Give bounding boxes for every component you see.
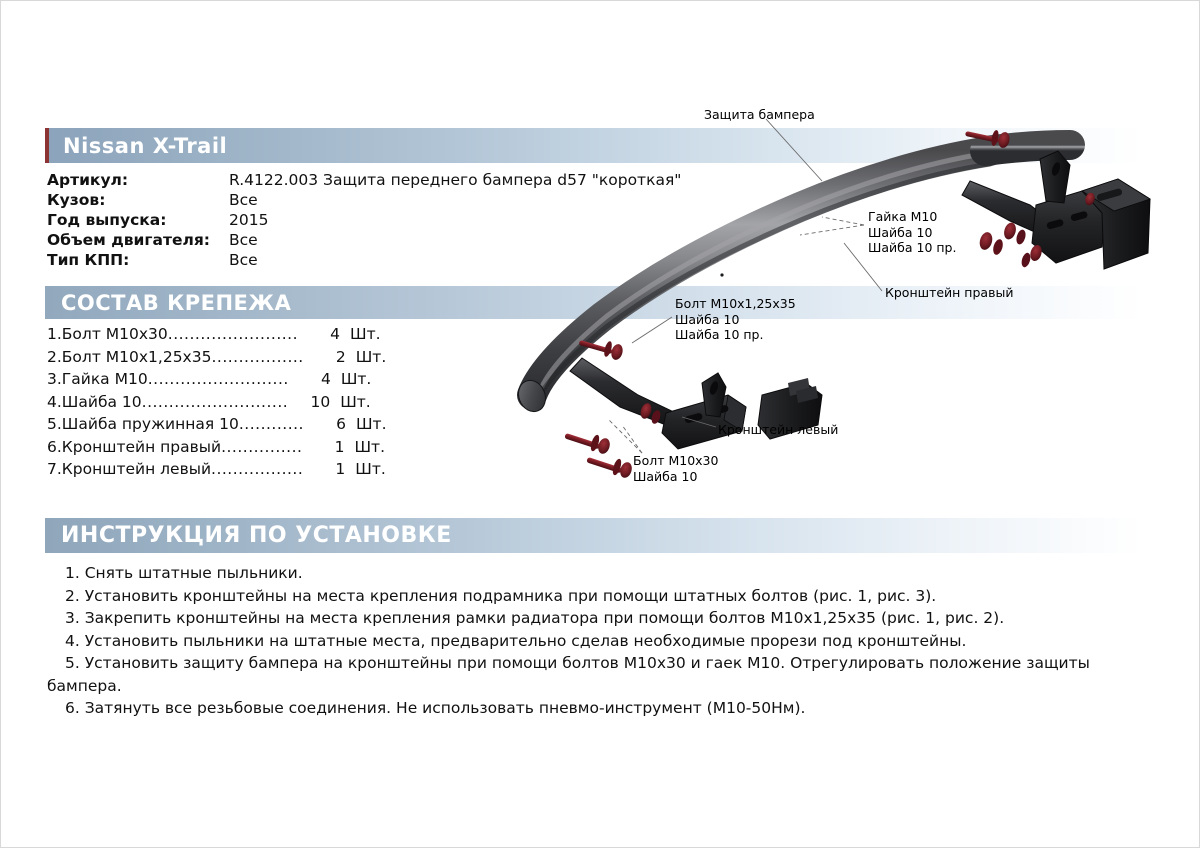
- washer: [1020, 252, 1032, 268]
- instruction-step: 6. Затянуть все резьбовые соединения. Не…: [47, 697, 1147, 720]
- spec-label: Тип КПП:: [47, 250, 229, 270]
- fastener-unit: Шт.: [340, 391, 374, 414]
- leader-line-right-group-a: [822, 217, 864, 225]
- instructions-title: ИНСТРУКЦИЯ ПО УСТАНОВКЕ: [45, 523, 452, 548]
- instruction-step: 2. Установить кронштейны на места крепле…: [47, 585, 1147, 608]
- leader-dots: .................: [211, 346, 303, 369]
- tube-vent-hole: [720, 273, 723, 276]
- callout-line: Болт М10х30: [633, 453, 718, 469]
- fasteners-title: СОСТАВ КРЕПЕЖА: [45, 291, 291, 315]
- spec-value: 2015: [229, 210, 268, 230]
- callout-line: Болт М10х1,25х35: [675, 296, 796, 312]
- fastener-name: Болт М10х1,25х35: [62, 346, 212, 369]
- fastener-qty: 2: [304, 346, 356, 369]
- fastener-unit: Шт.: [341, 368, 375, 391]
- leader-dots: ........................: [168, 323, 298, 346]
- nut-m10: [978, 231, 994, 252]
- spec-label: Объем двигателя:: [47, 230, 229, 250]
- spec-value: Все: [229, 190, 258, 210]
- callout-line: Шайба 10 пр.: [868, 240, 956, 256]
- callout-bumper-guard: Защита бампера: [704, 107, 815, 123]
- fastener-row: 7. Кронштейн левый ................. 1 Ш…: [47, 458, 390, 481]
- fastener-qty: 4: [289, 368, 341, 391]
- fastener-index: 7.: [47, 458, 62, 481]
- fastener-unit: Шт.: [354, 436, 388, 459]
- fastener-row: 5. Шайба пружинная 10 ............ 6 Шт.: [47, 413, 390, 436]
- fastener-unit: Шт.: [355, 458, 389, 481]
- fastener-qty: 6: [304, 413, 356, 436]
- left-bolt-group: [564, 433, 611, 455]
- leader-dots: ..........................: [148, 368, 289, 391]
- vehicle-title: Nissan X-Trail: [49, 134, 227, 158]
- leader-dots: .................: [211, 458, 303, 481]
- fastener-row: 4. Шайба 10 ........................... …: [47, 391, 390, 414]
- callout-line: Шайба 10 пр.: [675, 327, 796, 343]
- fastener-row: 6. Кронштейн правый ............... 1 Шт…: [47, 436, 390, 459]
- leader-line-left-group-a: [608, 419, 642, 453]
- product-diagram: Защита бампера Гайка М10 Шайба 10 Шайба …: [470, 95, 1170, 495]
- callout-right-fastener-group: Гайка М10 Шайба 10 Шайба 10 пр.: [868, 209, 956, 256]
- callout-line: Гайка М10: [868, 209, 956, 225]
- spec-label: Год выпуска:: [47, 210, 229, 230]
- left-bolt-group-2: [586, 457, 633, 479]
- leader-line-guard: [766, 119, 822, 181]
- callout-line: Шайба 10: [868, 225, 956, 241]
- instruction-step: 1. Снять штатные пыльники.: [47, 562, 1147, 585]
- leader-dots: ............: [239, 413, 304, 436]
- instruction-step: 5. Установить защиту бампера на кронштей…: [47, 652, 1147, 697]
- fastener-name: Кронштейн левый: [62, 458, 211, 481]
- spec-value: Все: [229, 230, 258, 250]
- tube-right-segment: [985, 145, 1070, 151]
- fastener-name: Шайба 10: [62, 391, 142, 414]
- fastener-name: Шайба пружинная 10: [62, 413, 239, 436]
- leader-line-mid-group: [632, 317, 672, 343]
- fastener-unit: Шт.: [356, 413, 390, 436]
- leader-dots: ...............: [221, 436, 302, 459]
- fastener-index: 2.: [47, 346, 62, 369]
- fastener-index: 3.: [47, 368, 62, 391]
- callout-line: Шайба 10: [633, 469, 718, 485]
- instruction-steps: 1. Снять штатные пыльники. 2. Установить…: [47, 562, 1147, 720]
- fastener-qty: 10: [288, 391, 340, 414]
- instruction-step: 4. Установить пыльники на штатные места,…: [47, 630, 1147, 653]
- fastener-index: 1.: [47, 323, 62, 346]
- fastener-name: Гайка М10: [62, 368, 148, 391]
- callout-line: Шайба 10: [675, 312, 796, 328]
- instructions-title-band: ИНСТРУКЦИЯ ПО УСТАНОВКЕ: [45, 518, 1143, 553]
- bolt-head: [610, 343, 625, 361]
- spec-label: Артикул:: [47, 170, 229, 190]
- nut-m10: [1002, 221, 1018, 241]
- fastener-unit: Шт.: [356, 346, 390, 369]
- callout-left-bracket: Кронштейн левый: [718, 422, 838, 438]
- callout-left-fastener-group: Болт М10х30 Шайба 10: [633, 453, 718, 484]
- fastener-list: 1. Болт М10х30 ........................ …: [47, 323, 390, 481]
- page-border-left: [0, 0, 1, 848]
- page-border-top: [0, 0, 1200, 1]
- fastener-unit: Шт.: [350, 323, 384, 346]
- fastener-row: 2. Болт М10х1,25х35 ................. 2 …: [47, 346, 390, 369]
- fastener-row: 1. Болт М10х30 ........................ …: [47, 323, 390, 346]
- fastener-qty: 4: [298, 323, 350, 346]
- fastener-qty: 1: [302, 436, 354, 459]
- fastener-qty: 1: [303, 458, 355, 481]
- fastener-name: Кронштейн правый: [62, 436, 221, 459]
- fastener-index: 6.: [47, 436, 62, 459]
- washer: [992, 238, 1005, 256]
- callout-mid-fastener-group: Болт М10х1,25х35 Шайба 10 Шайба 10 пр.: [675, 296, 796, 343]
- spring-washer: [1015, 229, 1027, 246]
- leader-dots: ...........................: [142, 391, 289, 414]
- spec-value: Все: [229, 250, 258, 270]
- callout-right-bracket: Кронштейн правый: [885, 285, 1013, 301]
- instruction-step: 3. Закрепить кронштейны на места креплен…: [47, 607, 1147, 630]
- fastener-index: 5.: [47, 413, 62, 436]
- leader-line-left-group-b: [622, 425, 642, 453]
- document-page: Nissan X-Trail Артикул: R.4122.003 Защит…: [0, 0, 1200, 848]
- fastener-index: 4.: [47, 391, 62, 414]
- bumper-guard-tube: [532, 151, 990, 395]
- tube-shadow: [536, 164, 990, 402]
- fastener-row: 3. Гайка М10 .......................... …: [47, 368, 390, 391]
- fastener-name: Болт М10х30: [62, 323, 168, 346]
- leader-line-right-group-b: [800, 225, 864, 235]
- spec-label: Кузов:: [47, 190, 229, 210]
